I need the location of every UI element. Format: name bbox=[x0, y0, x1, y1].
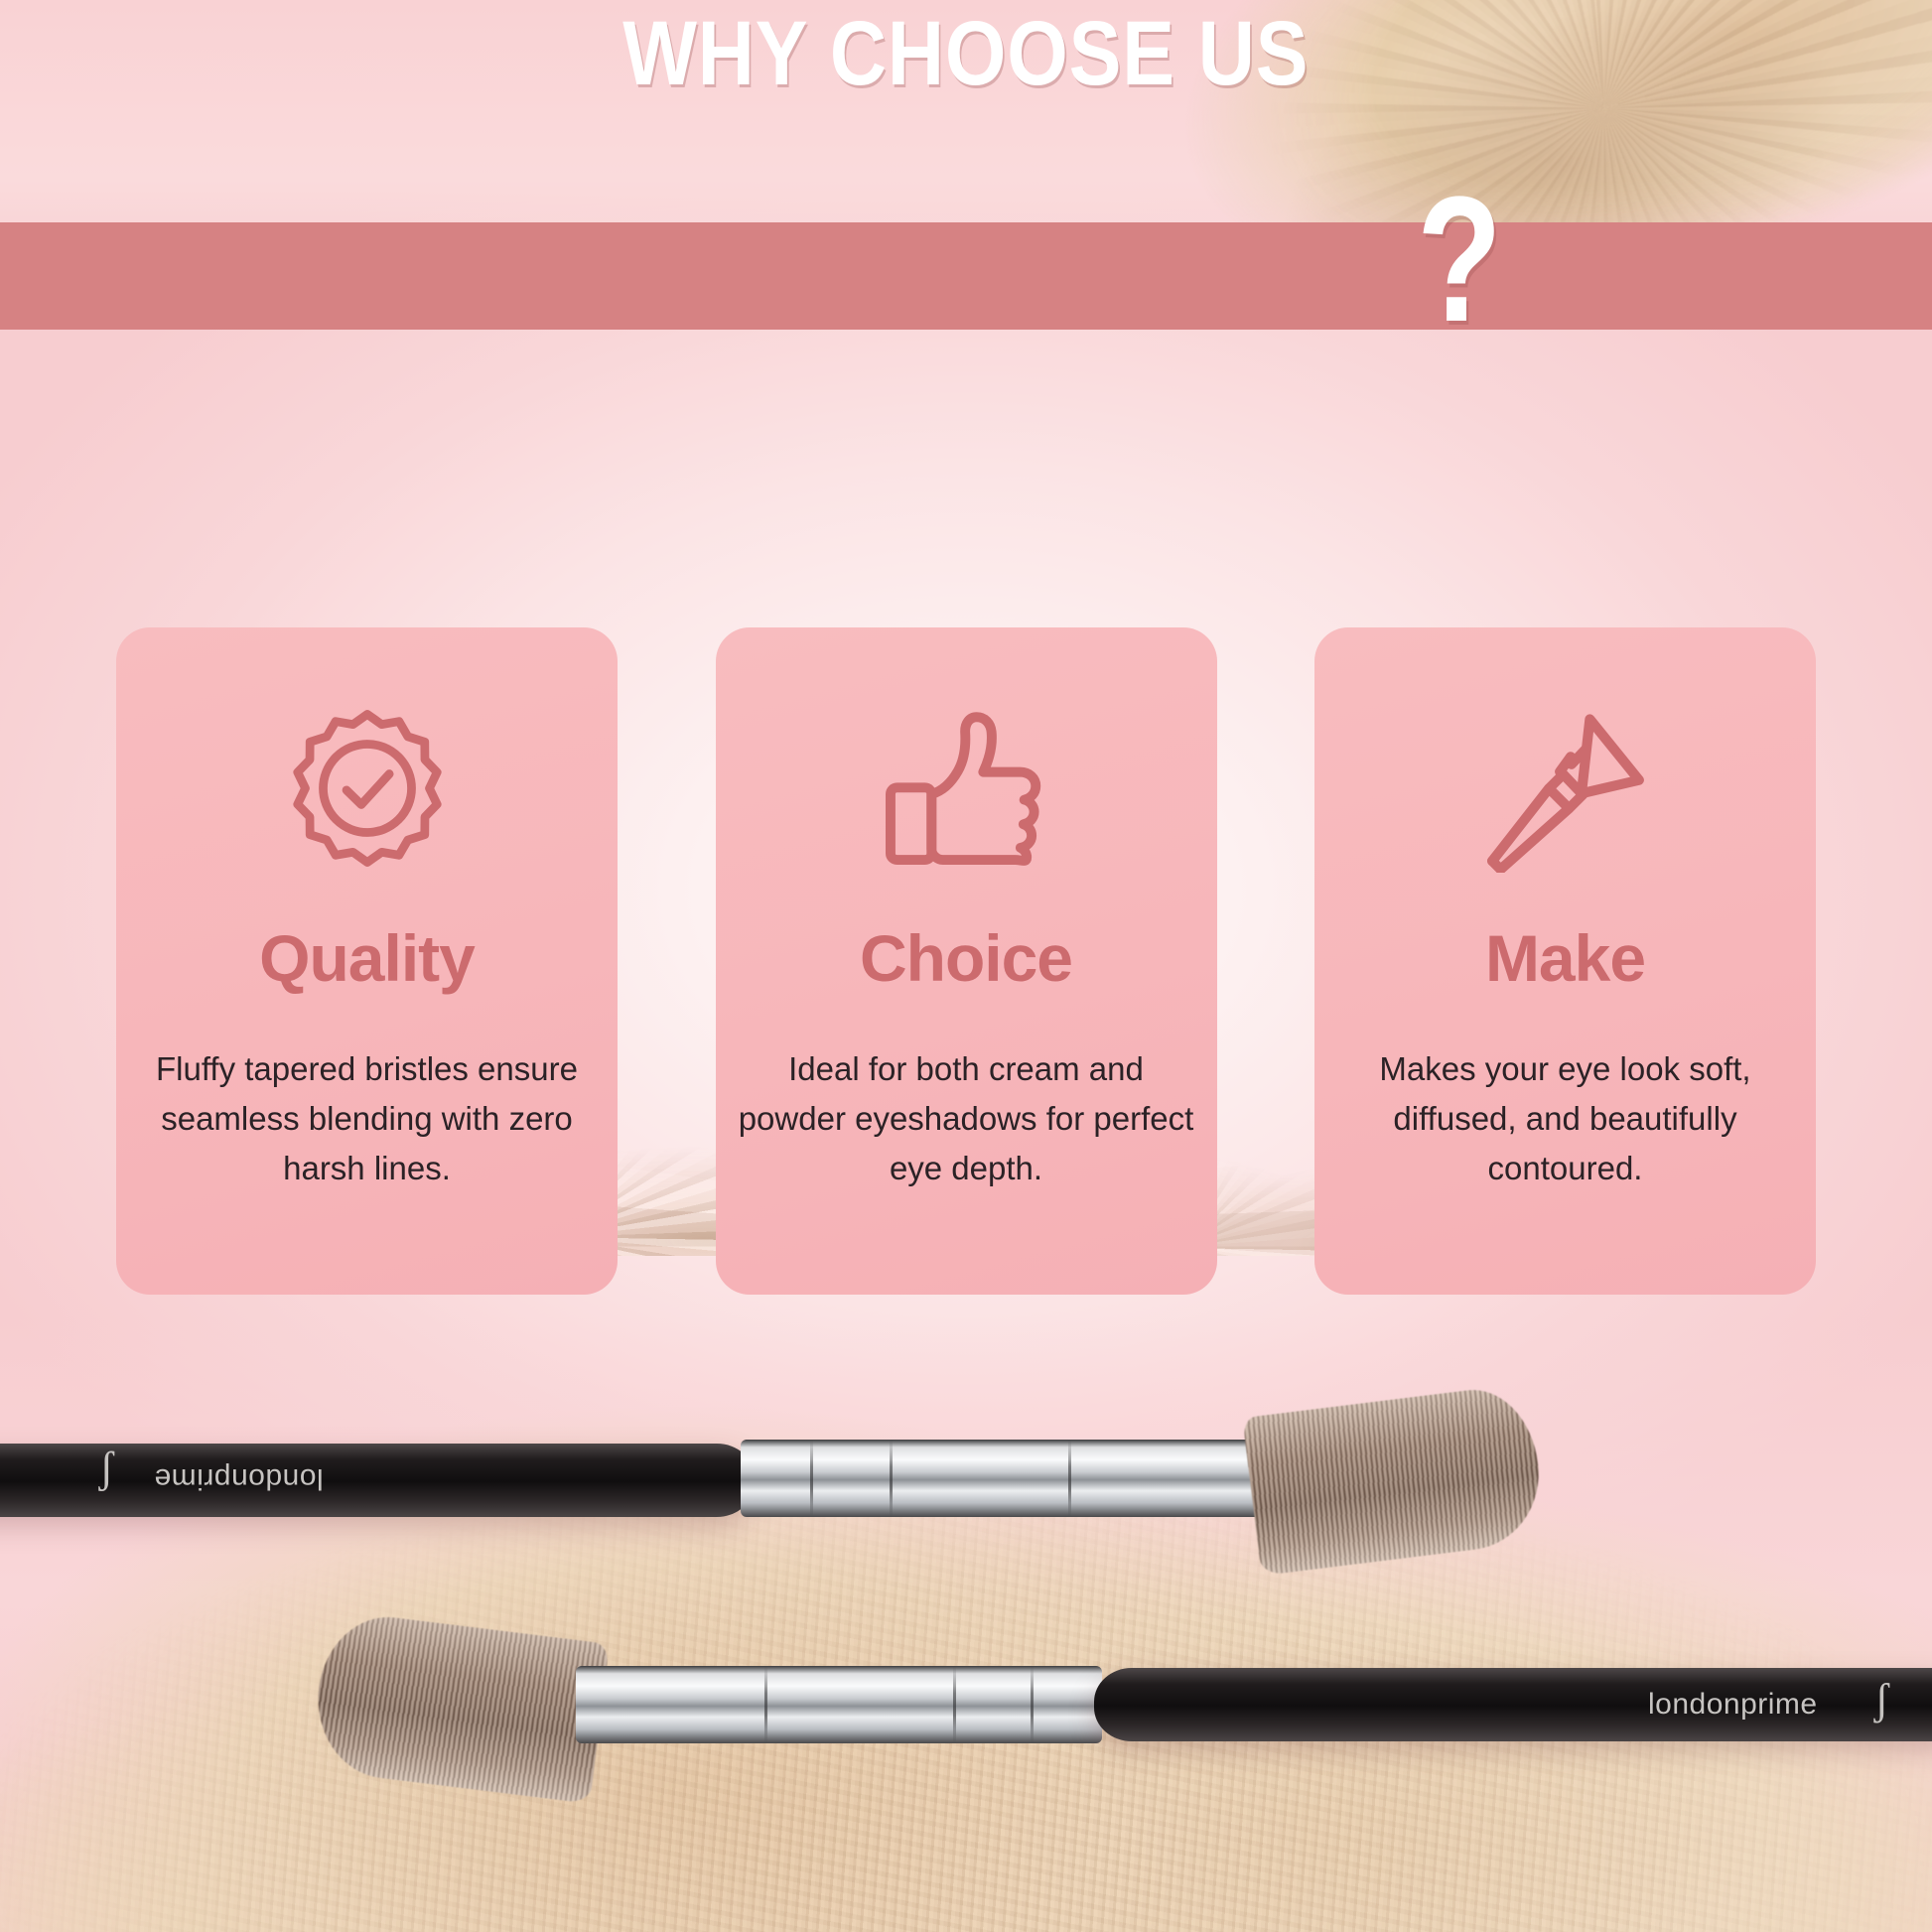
feature-card-choice[interactable]: Choice Ideal for both cream and powder e… bbox=[716, 627, 1217, 1295]
question-mark-glyph: ? bbox=[1417, 171, 1502, 349]
thumbs-up-icon bbox=[881, 705, 1051, 874]
feature-card-title: Choice bbox=[860, 925, 1072, 991]
feature-card-description: Ideal for both cream and powder eyeshado… bbox=[733, 1044, 1199, 1193]
quality-badge-check-icon bbox=[284, 705, 451, 874]
poster-canvas: WHY CHOOSE US ? Quality Fluffy tapered b… bbox=[0, 0, 1932, 1932]
header-banner-content: WHY CHOOSE US bbox=[0, 0, 1932, 107]
background-bottom-tint bbox=[0, 1316, 1932, 1932]
page-title: WHY CHOOSE US bbox=[622, 8, 1309, 99]
feature-card-description: Makes your eye look soft, diffused, and … bbox=[1332, 1044, 1799, 1193]
feature-card-make[interactable]: Make Makes your eye look soft, diffused,… bbox=[1314, 627, 1816, 1295]
header-banner bbox=[0, 222, 1932, 330]
feature-card-title: Quality bbox=[259, 925, 475, 991]
makeup-brush-icon bbox=[1478, 705, 1653, 874]
feature-card-title: Make bbox=[1485, 925, 1645, 991]
feature-card-quality[interactable]: Quality Fluffy tapered bristles ensure s… bbox=[116, 627, 618, 1295]
feature-card-description: Fluffy tapered bristles ensure seamless … bbox=[134, 1044, 601, 1193]
feature-card-list: Quality Fluffy tapered bristles ensure s… bbox=[116, 627, 1816, 1295]
